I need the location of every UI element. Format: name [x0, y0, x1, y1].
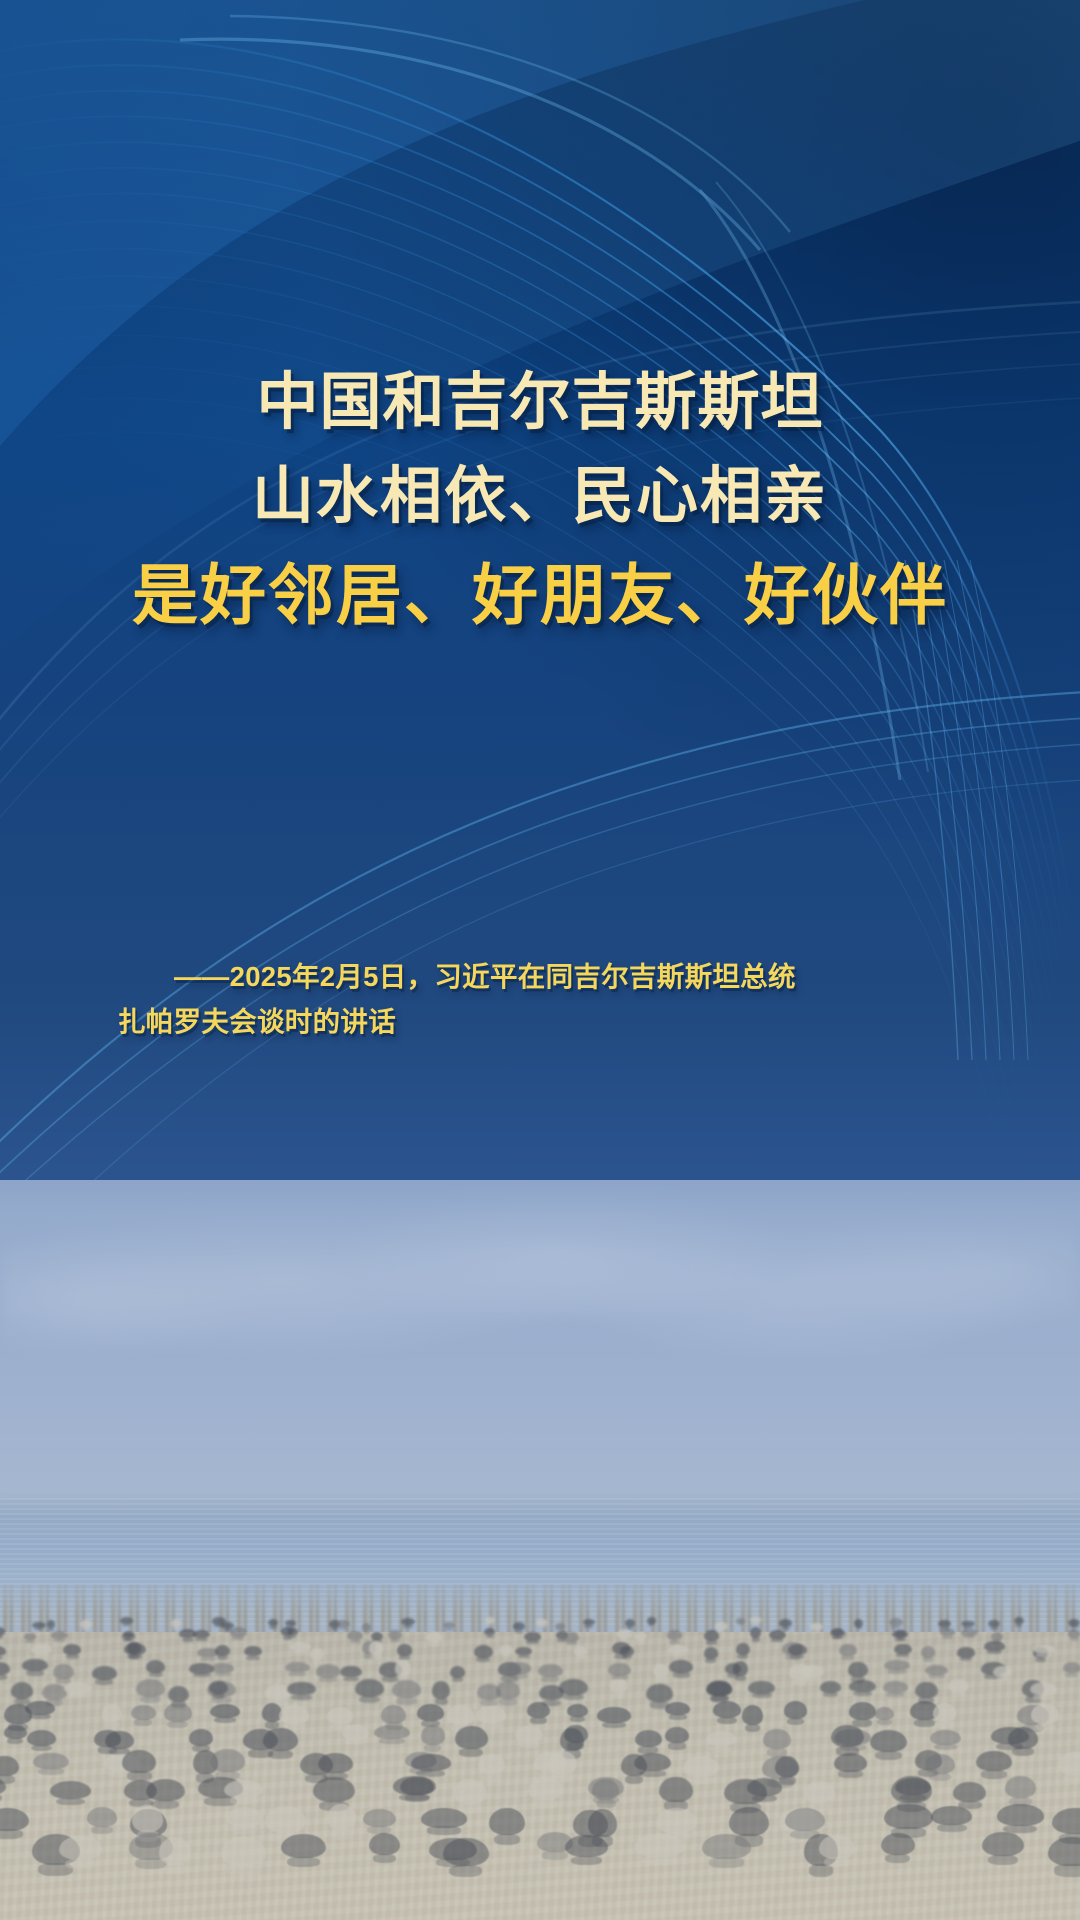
headline-block: 中国和吉尔吉斯斯坦 山水相依、民心相亲 是好邻居、好朋友、好伙伴 — [0, 372, 1080, 628]
quote-poster: 中国和吉尔吉斯斯坦 山水相依、民心相亲 是好邻居、好朋友、好伙伴 ——2025年… — [0, 0, 1080, 1920]
headline-line-2: 山水相依、民心相亲 — [0, 466, 1080, 528]
attribution-line-2: 扎帕罗夫会谈时的讲话 — [118, 1000, 818, 1045]
poster-content: 中国和吉尔吉斯斯坦 山水相依、民心相亲 是好邻居、好朋友、好伙伴 ——2025年… — [0, 0, 1080, 1920]
headline-line-3: 是好邻居、好朋友、好伙伴 — [0, 562, 1080, 628]
attribution-line-1: ——2025年2月5日，习近平在同吉尔吉斯斯坦总统 — [118, 955, 818, 1000]
attribution-block: ——2025年2月5日，习近平在同吉尔吉斯斯坦总统 扎帕罗夫会谈时的讲话 — [118, 955, 818, 1044]
headline-line-1: 中国和吉尔吉斯斯坦 — [0, 372, 1080, 434]
